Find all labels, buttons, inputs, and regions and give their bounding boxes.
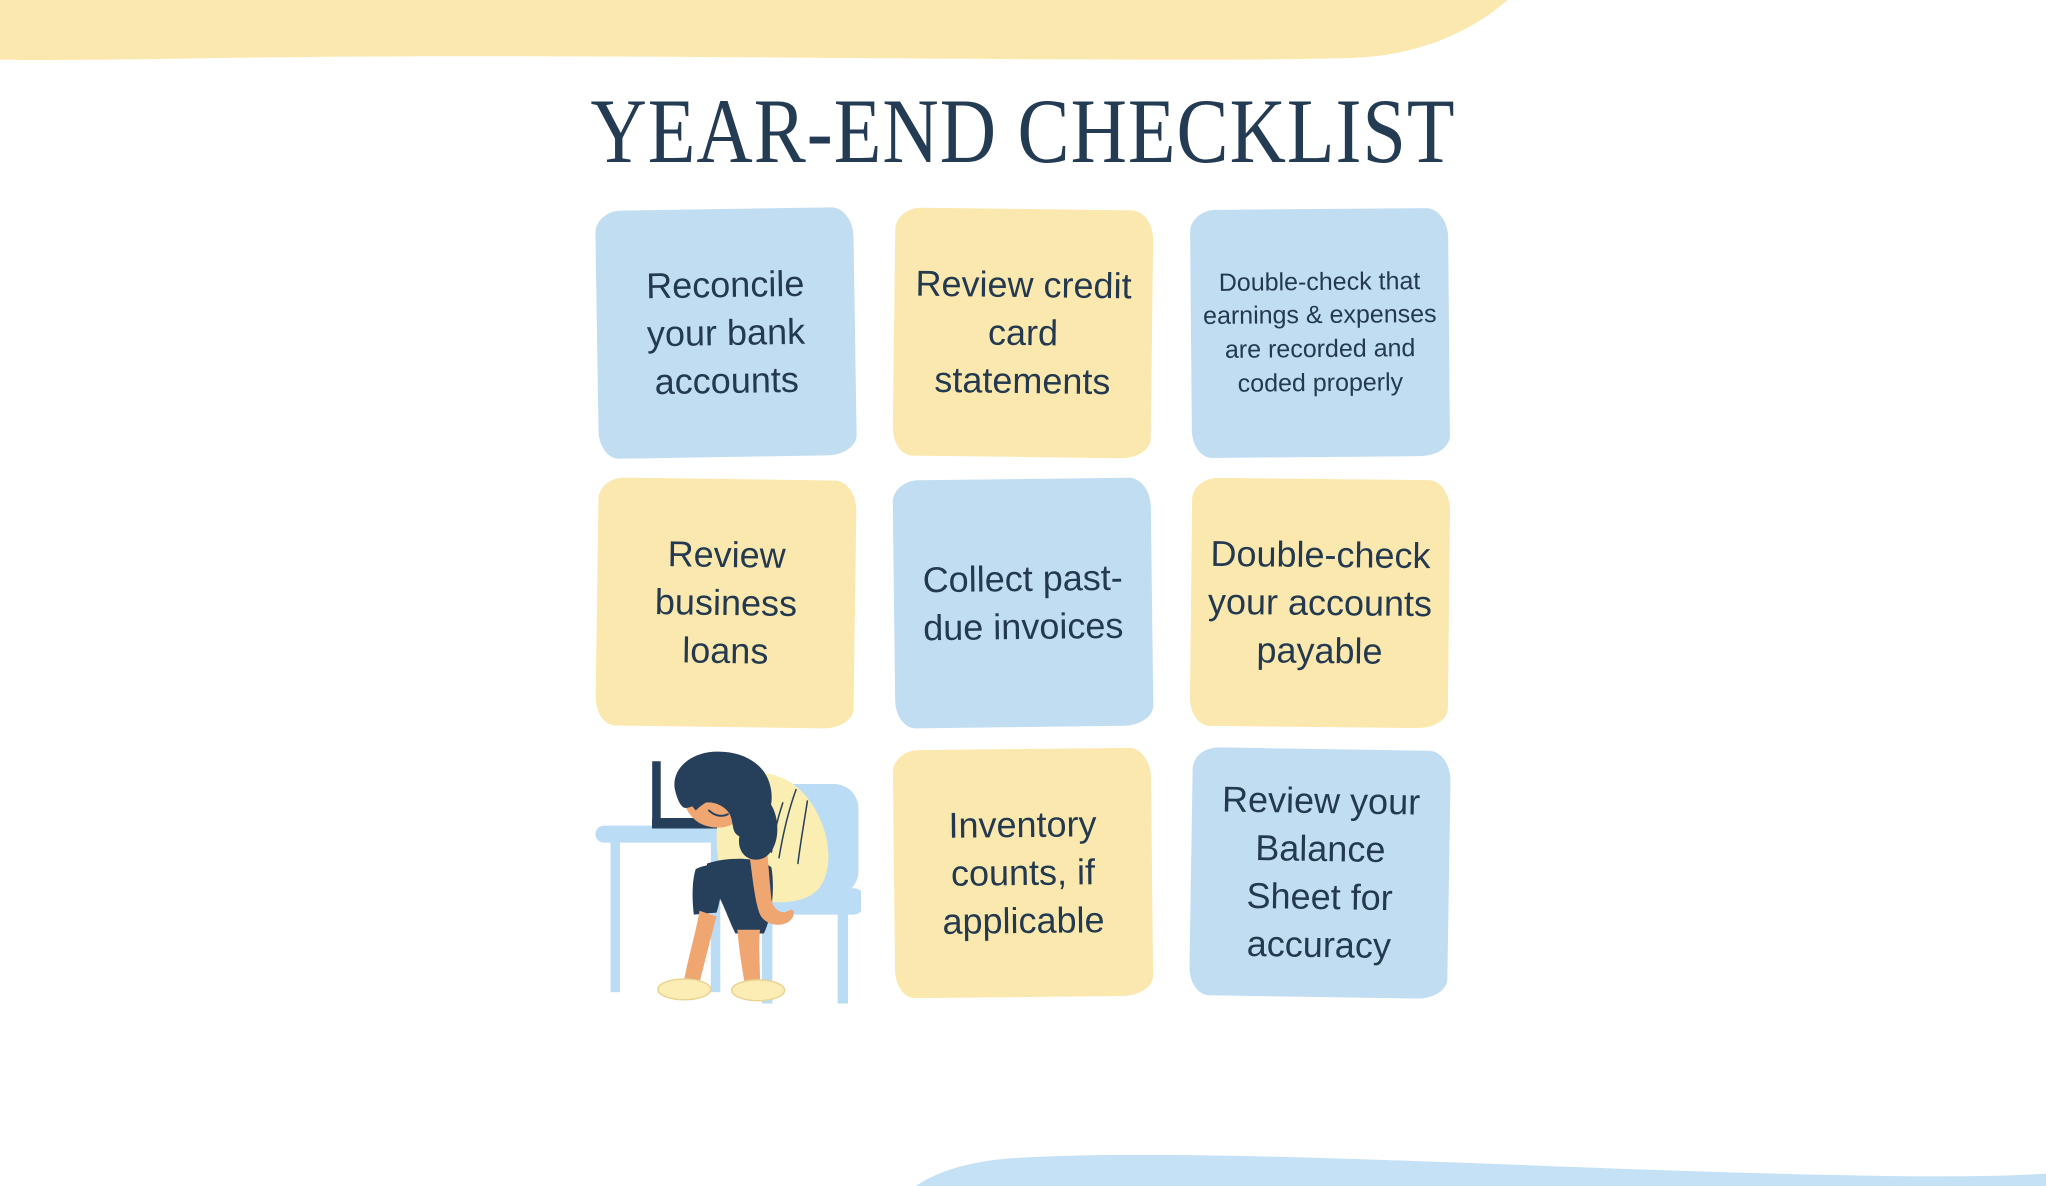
front-shoe-shape (732, 980, 785, 1001)
page-title: YEAR-END CHECKLIST (0, 78, 2046, 184)
checklist-cell-6: Double-check your accounts payable (1176, 473, 1463, 733)
checklist-card-inventory-counts[interactable]: Inventory counts, if applicable (893, 748, 1154, 999)
checklist-card-reconcile-bank-accounts[interactable]: Reconcile your bank accounts (595, 207, 857, 459)
checklist-card-double-check-earnings-expenses[interactable]: Double-check that earnings & expenses ar… (1190, 208, 1450, 458)
top-yellow-banner (0, 0, 1540, 60)
checklist-cell-2: Review credit card statements (880, 203, 1167, 463)
checklist-card-review-balance-sheet[interactable]: Review your Balance Sheet for accuracy (1189, 747, 1451, 999)
checklist-card-review-business-loans[interactable]: Review business loans (596, 477, 857, 729)
checklist-cell-1: Reconcile your bank accounts (583, 203, 870, 463)
checklist-cell-4: Review business loans (583, 473, 870, 733)
slide-canvas: YEAR-END CHECKLIST Reconcile your bank a… (0, 0, 2046, 1186)
checklist-cell-8: Inventory counts, if applicable (880, 743, 1167, 1003)
bottom-blue-banner (886, 1106, 2046, 1186)
front-leg-shape (738, 930, 761, 985)
checklist-card-collect-past-due-invoices[interactable]: Collect past-due invoices (892, 477, 1153, 728)
checklist-cell-3: Double-check that earnings & expenses ar… (1176, 203, 1463, 463)
back-shoe-shape (658, 979, 711, 1000)
checklist-grid: Reconcile your bank accounts Review cred… (583, 203, 1463, 1003)
illustration-cell (583, 743, 870, 1003)
tired-woman-at-laptop-illustration (591, 748, 861, 1013)
checklist-card-double-check-accounts-payable[interactable]: Double-check your accounts payable (1189, 478, 1450, 729)
checklist-card-review-credit-card-statements[interactable]: Review credit card statements (892, 207, 1153, 458)
checklist-cell-9: Review your Balance Sheet for accuracy (1176, 743, 1463, 1003)
checklist-cell-5: Collect past-due invoices (880, 473, 1167, 733)
